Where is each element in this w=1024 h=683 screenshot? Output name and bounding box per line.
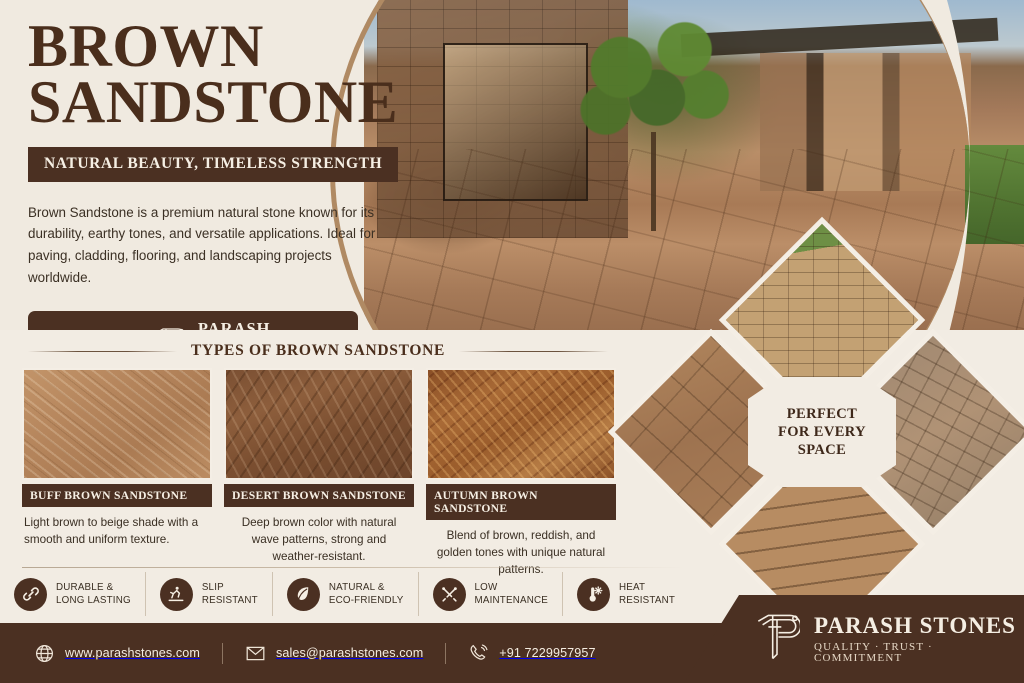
feature-heat-label: HEAT RESISTANT [619,581,675,607]
supply-by-badge[interactable]: SUPPLY BY PARASH STONES QUALITY · TRUST … [28,311,358,330]
footer-website-link[interactable]: www.parashstones.com [12,643,222,664]
autumn-brown-swatch [426,368,616,480]
feature-maintenance-label: LOW MAINTENANCE [475,581,549,607]
type-card-autumn[interactable]: AUTUMN BROWN SANDSTONE Blend of brown, r… [426,368,616,579]
footer-brand-tagline: QUALITY · TRUST · COMMITMENT [814,642,1024,664]
chain-link-icon [14,578,47,611]
feature-slip-line2: RESISTANT [202,595,258,606]
feature-eco-label: NATURAL & ECO-FRIENDLY [329,581,404,607]
badge-brand-block: PARASH STONES QUALITY · TRUST · COMMITME… [198,321,342,330]
parash-monogram-icon [754,612,800,667]
feature-low-maintenance[interactable]: LOW MAINTENANCE [418,572,563,616]
footer-phone-text: +91 7229957957 [499,646,595,660]
feature-durable-label: DURABLE & LONG LASTING [56,581,131,607]
hero-tree-canopy [562,7,760,159]
buff-brown-swatch [22,368,212,480]
slip-person-icon [160,578,193,611]
types-heading-row: TYPES OF BROWN SANDSTONE [28,342,608,360]
types-grid: BUFF BROWN SANDSTONE Light brown to beig… [22,368,616,579]
diamond-collage: PERFECT FOR EVERY SPACE [620,255,1024,610]
collage-center-label: PERFECT FOR EVERY SPACE [748,377,896,487]
type-label-desert: DESERT BROWN SANDSTONE [224,484,414,507]
footer-brand-name: PARASH STONES [814,614,1024,637]
parash-monogram-icon [153,327,185,330]
globe-icon [34,643,55,664]
type-desc-buff: Light brown to beige shade with a smooth… [22,515,212,549]
feature-heat-resistant[interactable]: HEAT RESISTANT [562,572,689,616]
intro-paragraph: Brown Sandstone is a premium natural sto… [28,202,388,289]
desert-brown-swatch [224,368,414,480]
feature-heat-line1: HEAT [619,582,645,593]
feature-eco-line1: NATURAL & [329,582,385,593]
feature-slip-line1: SLIP [202,582,224,593]
page-title: BROWN SANDSTONE [28,18,448,131]
heading-rule-left [28,351,177,352]
feature-durable-long-lasting[interactable]: DURABLE & LONG LASTING [0,572,145,616]
feature-slip-resistant[interactable]: SLIP RESISTANT [145,572,272,616]
type-label-buff: BUFF BROWN SANDSTONE [22,484,212,507]
type-desc-desert: Deep brown color with natural wave patte… [224,515,414,566]
collage-center-line1: PERFECT [787,405,857,423]
footer-phone-link[interactable]: +91 7229957957 [445,643,617,664]
feature-heat-line2: RESISTANT [619,595,675,606]
footer-email-text: sales@parashstones.com [276,646,423,660]
hero-tree-trunk [651,132,656,231]
feature-slip-label: SLIP RESISTANT [202,581,258,607]
feature-maintenance-line1: LOW [475,582,498,593]
feature-maintenance-line2: MAINTENANCE [475,595,549,606]
envelope-icon [245,643,266,664]
type-card-desert[interactable]: DESERT BROWN SANDSTONE Deep brown color … [224,368,414,579]
poster-canvas: BROWN SANDSTONE NATURAL BEAUTY, TIMELESS… [0,0,1024,683]
type-card-buff[interactable]: BUFF BROWN SANDSTONE Light brown to beig… [22,368,212,579]
tools-icon [433,578,466,611]
badge-brand-name: PARASH STONES [198,321,342,330]
thermometer-icon [577,578,610,611]
features-strip: DURABLE & LONG LASTING SLIP RESISTANT [0,565,700,623]
features-top-rule [22,567,684,568]
type-label-autumn: AUTUMN BROWN SANDSTONE [426,484,616,520]
feature-durable-line1: DURABLE & [56,582,113,593]
feature-durable-line2: LONG LASTING [56,595,131,606]
tagline-banner: NATURAL BEAUTY, TIMELESS STRENGTH [28,147,398,182]
page-title-line2: SANDSTONE [28,74,448,130]
heading-rule-right [459,351,608,352]
types-section-title: TYPES OF BROWN SANDSTONE [191,342,445,360]
footer-brand-block: PARASH STONES QUALITY · TRUST · COMMITME… [684,595,1024,683]
headline-block: BROWN SANDSTONE NATURAL BEAUTY, TIMELESS… [28,18,448,330]
collage-center-line3: SPACE [798,441,846,459]
feature-eco-line2: ECO-FRIENDLY [329,595,404,606]
feature-natural-eco-friendly[interactable]: NATURAL & ECO-FRIENDLY [272,572,418,616]
footer-email-link[interactable]: sales@parashstones.com [222,643,445,664]
footer-website-text: www.parashstones.com [65,646,200,660]
leaf-icon [287,578,320,611]
footer-brand-text: PARASH STONES QUALITY · TRUST · COMMITME… [814,614,1024,664]
collage-center-line2: FOR EVERY [778,423,866,441]
phone-icon [468,643,489,664]
